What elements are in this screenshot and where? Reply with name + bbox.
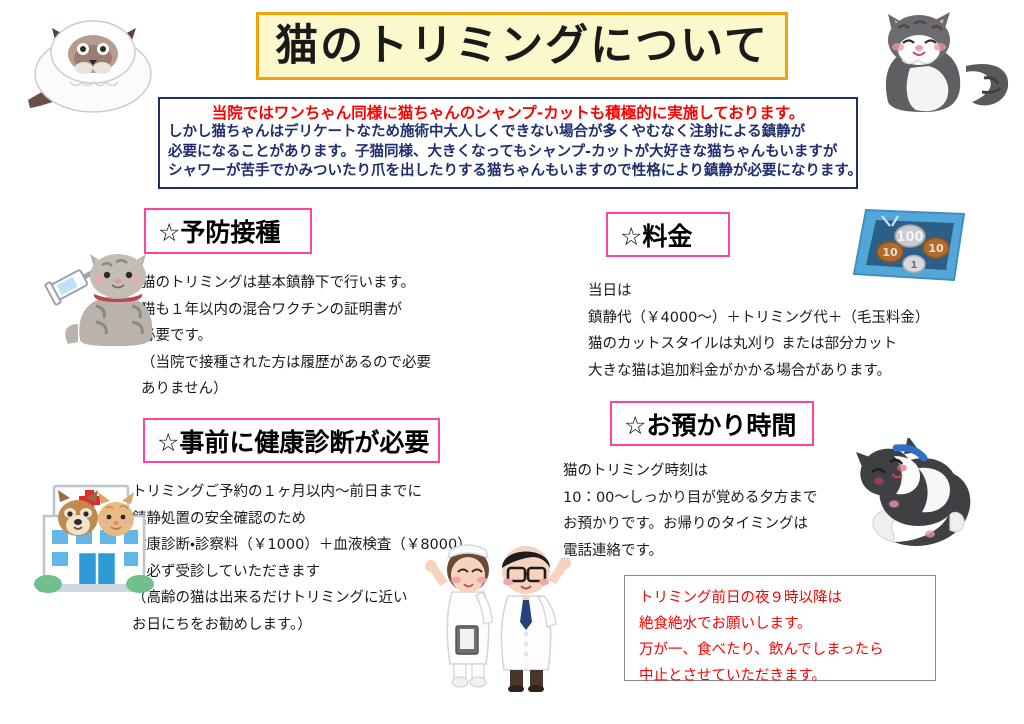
page-title-box: 猫のトリミングについて xyxy=(256,12,788,80)
animal-hospital-illustration xyxy=(28,472,160,604)
fasting-warning-box: トリミング前日の夜９時以降は 絶食絶水でお願いします。 万が一、食べたり、飲んで… xyxy=(624,575,936,681)
persian-cat-illustration xyxy=(18,8,168,116)
checkup-line-1: トリミングご予約の１ヶ月以内〜前日までに xyxy=(132,479,472,506)
section-heading-checkup: ☆事前に健康診断が必要 xyxy=(143,418,440,463)
vaccination-line-3: 必要です。 xyxy=(141,323,431,350)
section-body-vaccination: 猫のトリミングは基本鎮静下で行います。 猫も１年以内の混合ワクチンの証明書が 必… xyxy=(141,270,431,403)
section-heading-vaccination-label: ☆予防接種 xyxy=(158,213,280,249)
fee-line-2: 鎮静代（￥4000〜）＋トリミング代＋（毛玉料金） xyxy=(588,305,929,332)
page-title: 猫のトリミングについて xyxy=(275,25,769,68)
intro-notice-box: 当院ではワンちゃん同様に猫ちゃんのシャンプ-カットも積極的に実施しております。 … xyxy=(158,97,858,189)
section-heading-boarding: ☆お預かり時間 xyxy=(610,401,814,446)
fee-line-4: 大きな猫は追加料金がかかる場合があります。 xyxy=(588,358,929,385)
vaccination-line-2: 猫も１年以内の混合ワクチンの証明書が xyxy=(141,297,431,324)
warning-line-4: 中止とさせていただきます。 xyxy=(639,663,935,689)
poster-canvas: 猫のトリミングについて xyxy=(0,0,1024,724)
svg-text:10: 10 xyxy=(882,246,898,259)
warning-line-3: 万が一、食べたり、飲んでしまったら xyxy=(639,637,935,663)
svg-text:1: 1 xyxy=(911,260,918,271)
vaccine-cat-illustration xyxy=(44,248,166,350)
coin-tray-illustration: 100 10 10 1 xyxy=(846,204,974,294)
boarding-line-4: 電話連絡です。 xyxy=(563,538,817,565)
section-heading-boarding-label: ☆お預かり時間 xyxy=(624,406,796,442)
intro-line-2: 必要になることがあります。子猫同様、大きくなってもシャンプ-カットが大好きな猫ち… xyxy=(168,143,848,162)
section-heading-vaccination: ☆予防接種 xyxy=(144,208,312,254)
section-body-boarding: 猫のトリミング時刻は 10：00〜しっかり目が覚める夕方まで お預かりです。お帰… xyxy=(563,458,817,564)
vaccination-line-4: （当院で接種された方は履歴があるので必要 xyxy=(141,350,431,377)
section-heading-fee-label: ☆料金 xyxy=(620,217,692,253)
intro-line-3: シャワーが苦手でかみついたり爪を出したりする猫ちゃんもいますので性格により鎮静が… xyxy=(168,162,848,181)
intro-headline: 当院ではワンちゃん同様に猫ちゃんのシャンプ-カットも積極的に実施しております。 xyxy=(168,104,848,123)
fee-line-3: 猫のカットスタイルは丸刈り または部分カット xyxy=(588,331,929,358)
svg-text:100: 100 xyxy=(896,230,923,245)
boarding-line-3: お預かりです。お帰りのタイミングは xyxy=(563,511,817,538)
warning-line-2: 絶食絶水でお願いします。 xyxy=(639,611,935,637)
sleeping-cat-illustration xyxy=(834,438,982,560)
boarding-line-1: 猫のトリミング時刻は xyxy=(563,458,817,485)
vaccination-line-1: 猫のトリミングは基本鎮静下で行います。 xyxy=(141,270,431,297)
boarding-line-2: 10：00〜しっかり目が覚める夕方まで xyxy=(563,485,817,512)
section-heading-checkup-label: ☆事前に健康診断が必要 xyxy=(157,423,429,459)
gray-cat-illustration xyxy=(858,6,1018,116)
warning-line-1: トリミング前日の夜９時以降は xyxy=(639,585,935,611)
section-heading-fee: ☆料金 xyxy=(606,212,730,257)
vaccination-line-5: ありません） xyxy=(141,376,431,403)
checkup-line-2: 鎮静処置の安全確認のため xyxy=(132,506,472,533)
intro-line-1: しかし猫ちゃんはデリケートなため施術中大人しくできない場合が多くやむなく注射によ… xyxy=(168,123,848,142)
svg-text:10: 10 xyxy=(928,242,944,255)
doctor-nurse-illustration xyxy=(416,530,578,692)
